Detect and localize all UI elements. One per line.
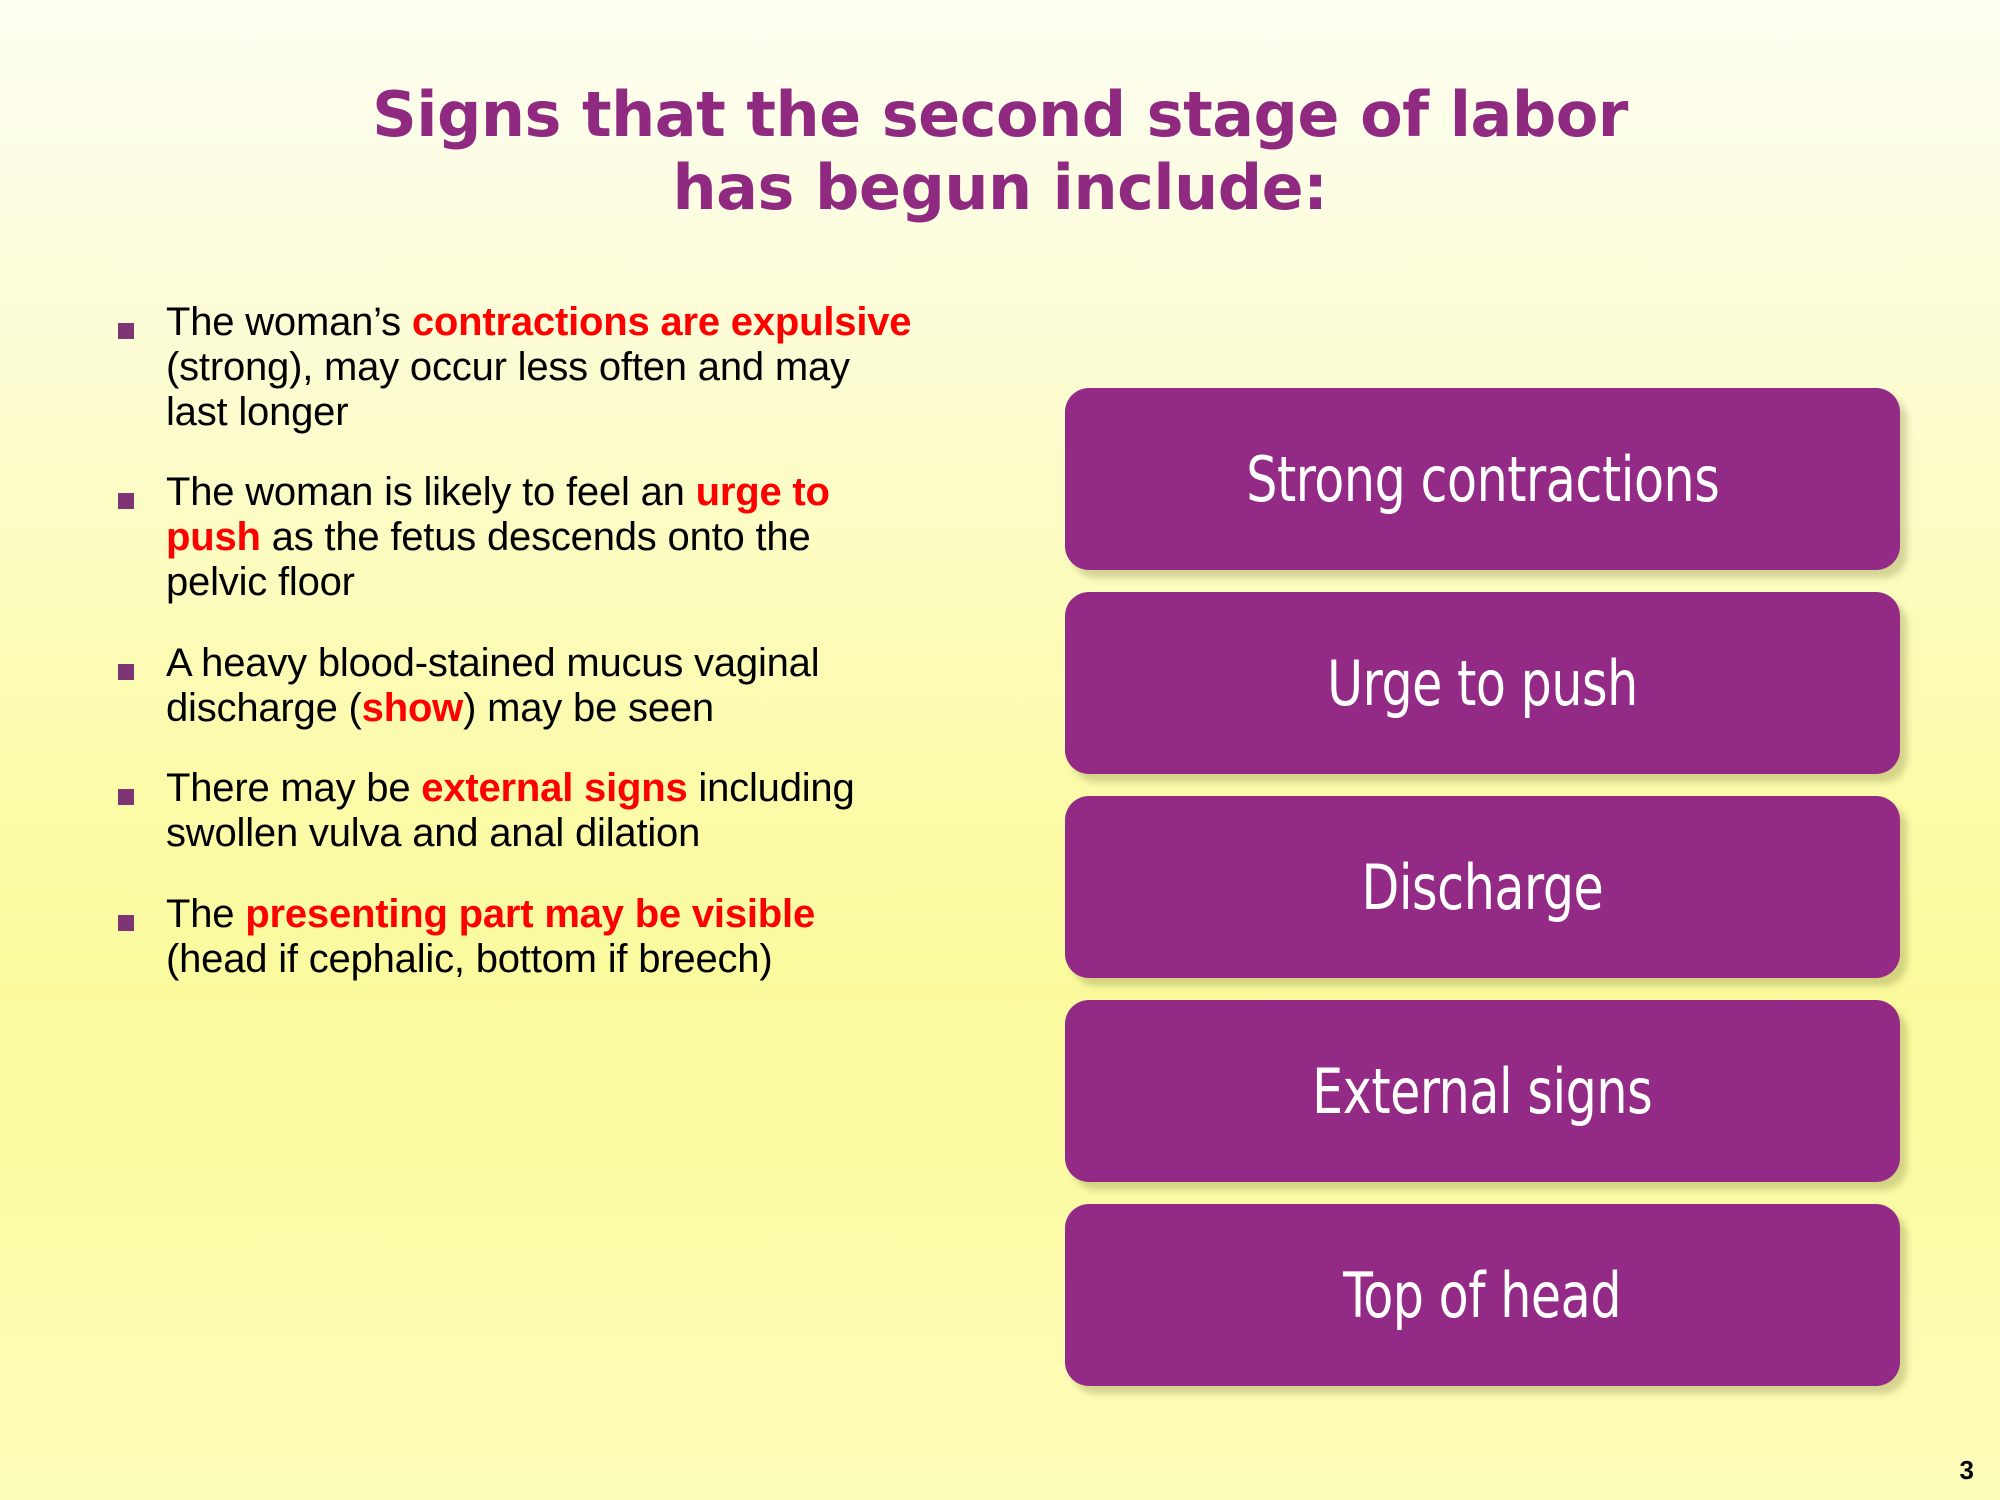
summary-box-list: Strong contractionsUrge to pushDischarge… <box>1065 388 1900 1408</box>
highlighted-term: presenting part may be visible <box>245 892 815 936</box>
summary-box-urge-to-push: Urge to push <box>1065 592 1900 774</box>
body-text: There may be <box>166 766 421 810</box>
body-text: The woman is likely to feel an <box>166 470 696 514</box>
list-item-text: A heavy blood-stained mucus vaginal disc… <box>166 641 918 731</box>
body-text: The woman’s <box>166 300 412 344</box>
body-text: as the fetus descends onto the pelvic fl… <box>166 515 811 604</box>
summary-box-label: Urge to push <box>1327 647 1638 720</box>
body-text: (head if cephalic, bottom if breech) <box>166 937 772 981</box>
body-text: (strong), may occur less often and may l… <box>166 345 850 434</box>
list-item: The woman’s contractions are expulsive (… <box>118 300 918 434</box>
list-item: A heavy blood-stained mucus vaginal disc… <box>118 641 918 731</box>
list-item: There may be external signs including sw… <box>118 766 918 856</box>
highlighted-term: external signs <box>421 766 687 810</box>
list-item-text: The woman is likely to feel an urge to p… <box>166 470 918 604</box>
summary-box-label: Discharge <box>1362 851 1604 924</box>
square-bullet-icon <box>118 915 134 931</box>
body-text: ) may be seen <box>463 686 714 730</box>
list-item: The woman is likely to feel an urge to p… <box>118 470 918 604</box>
page-title-line-1: Signs that the second stage of labor <box>120 78 1880 151</box>
summary-box-discharge: Discharge <box>1065 796 1900 978</box>
square-bullet-icon <box>118 493 134 509</box>
summary-box-external-signs: External signs <box>1065 1000 1900 1182</box>
highlighted-term: show <box>362 686 463 730</box>
page-number: 3 <box>1960 1455 1974 1486</box>
body-text: The <box>166 892 245 936</box>
square-bullet-icon <box>118 323 134 339</box>
summary-box-strong-contractions: Strong contractions <box>1065 388 1900 570</box>
summary-box-label: Top of head <box>1343 1259 1621 1332</box>
bullet-list: The woman’s contractions are expulsive (… <box>118 300 918 1018</box>
summary-box-top-of-head: Top of head <box>1065 1204 1900 1386</box>
square-bullet-icon <box>118 664 134 680</box>
square-bullet-icon <box>118 789 134 805</box>
list-item-text: The presenting part may be visible (head… <box>166 892 918 982</box>
list-item: The presenting part may be visible (head… <box>118 892 918 982</box>
slide-canvas: Signs that the second stage of labor has… <box>0 0 2000 1500</box>
page-title: Signs that the second stage of labor has… <box>120 78 1880 224</box>
page-title-line-2: has begun include: <box>120 151 1880 224</box>
summary-box-label: Strong contractions <box>1246 443 1719 516</box>
summary-box-label: External signs <box>1312 1055 1652 1128</box>
list-item-text: There may be external signs including sw… <box>166 766 918 856</box>
highlighted-term: contractions are expulsive <box>412 300 911 344</box>
list-item-text: The woman’s contractions are expulsive (… <box>166 300 918 434</box>
